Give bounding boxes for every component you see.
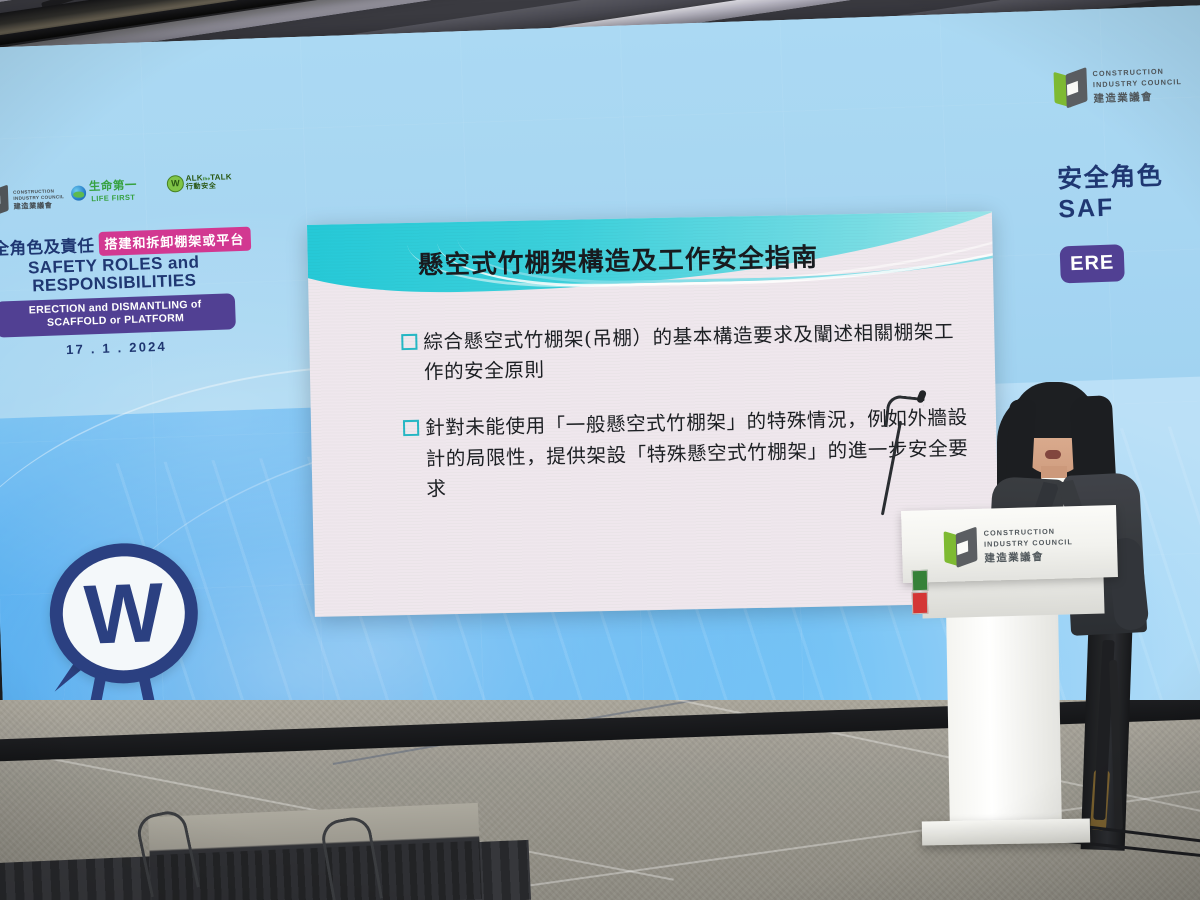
cic-logo-text: CONSTRUCTION INDUSTRY COUNCIL 建造業議會 — [13, 188, 65, 211]
life-first-en: LIFE FIRST — [89, 192, 137, 203]
cic-logo: CONSTRUCTION INDUSTRY COUNCIL 建造業議會 — [0, 185, 65, 216]
backdrop-banner-right: CONSTRUCTION INDUSTRY COUNCIL 建造業議會 安全角色… — [1053, 63, 1200, 284]
cic-cube-icon — [0, 187, 10, 216]
cic-cube-icon-right — [1053, 70, 1088, 107]
life-first-cn: 生命第一 — [89, 181, 137, 194]
cic-logo-right: CONSTRUCTION INDUSTRY COUNCIL 建造業議會 — [1053, 63, 1200, 108]
step-skirting — [150, 841, 482, 900]
wtt-line1: ALKtheTALK — [186, 173, 232, 183]
cic-cn: 建造業議會 — [13, 200, 64, 211]
wtt-talk: TALK — [210, 172, 232, 182]
walk-the-talk-logo: ALKtheTALK 行動安全 — [167, 173, 233, 192]
banner-right-title-cn: 安全角色 — [1057, 152, 1200, 196]
wtt-alk: ALK — [186, 173, 203, 183]
wtt-cn: 行動安全 — [186, 182, 232, 191]
banner-logo-row: CONSTRUCTION INDUSTRY COUNCIL 建造業議會 生命第一… — [0, 169, 248, 232]
lectern-base — [922, 819, 1090, 846]
banner-right-band: ERE — [1060, 244, 1125, 283]
photo-scene: CONSTRUCTION INDUSTRY COUNCIL 建造業議會 生命第一… — [0, 0, 1200, 900]
lectern-front-panel: CONSTRUCTION INDUSTRY COUNCIL 建造業議會 — [901, 505, 1118, 583]
green-indicator[interactable] — [912, 570, 929, 591]
life-first-logo: 生命第一 LIFE FIRST — [71, 181, 138, 204]
lectern-column — [946, 611, 1062, 828]
lectern: CONSTRUCTION INDUSTRY COUNCIL 建造業議會 — [900, 508, 1125, 866]
mouth — [1045, 450, 1061, 459]
backdrop-banner-left: CONSTRUCTION INDUSTRY COUNCIL 建造業議會 生命第一… — [0, 169, 256, 448]
lectern-cic-logo: CONSTRUCTION INDUSTRY COUNCIL 建造業議會 — [944, 526, 1074, 567]
globe-icon — [71, 185, 87, 201]
banner-date: 17 . 1 . 2024 — [0, 335, 253, 359]
lectern-logo-cn: 建造業議會 — [984, 548, 1073, 565]
walk-mascot-icon — [167, 175, 185, 193]
mascot-letter: W — [47, 541, 200, 686]
cic-cube-icon-lectern — [944, 529, 979, 566]
cic-right-cn: 建造業議會 — [1093, 88, 1182, 106]
red-indicator[interactable] — [912, 592, 929, 614]
wtt-the: the — [203, 176, 211, 181]
banner-subtitle-band: ERECTION and DISMANTLING of SCAFFOLD or … — [0, 294, 236, 338]
